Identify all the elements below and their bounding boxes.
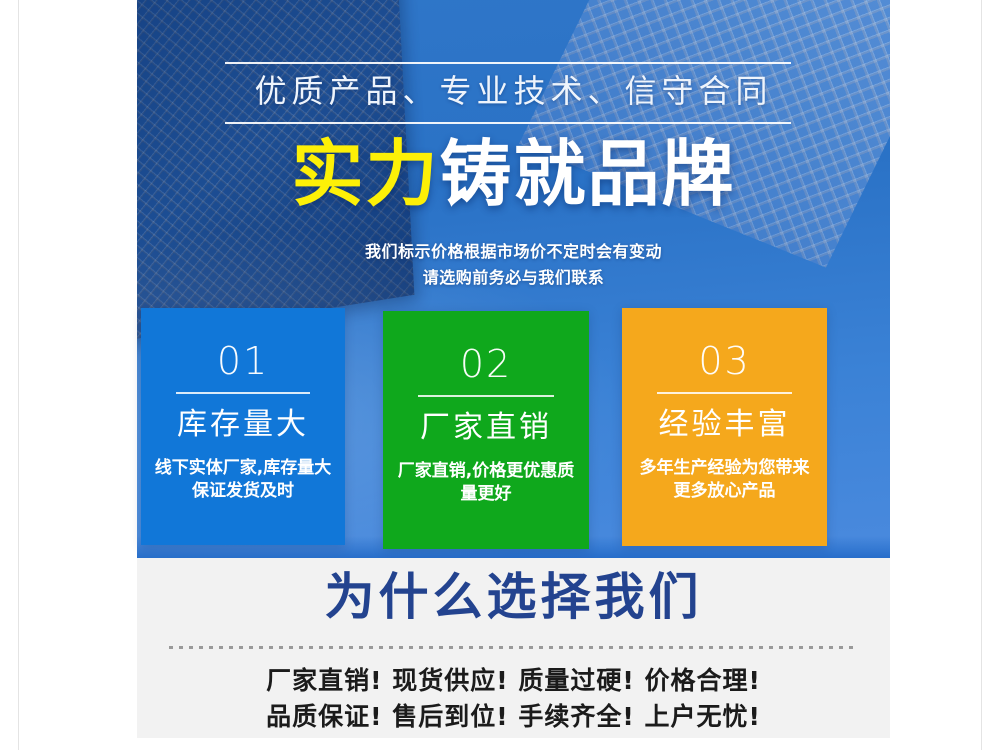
right-gutter-rule — [981, 0, 982, 750]
hero-note-line-1: 我们标示价格根据市场价不定时会有变动 — [137, 238, 890, 262]
dotted-divider — [169, 646, 858, 649]
headline-rest: 铸就品牌 — [440, 132, 736, 216]
feature-card-02-title: 厂家直销 — [383, 411, 589, 444]
feature-card-01-divider — [176, 392, 311, 394]
feature-card-03-number: 03 — [622, 342, 827, 380]
left-gutter-rule — [18, 0, 19, 750]
feature-card-03: 03 经验丰富 多年生产经验为您带来更多放心产品 — [622, 308, 827, 546]
feature-card-02-desc: 厂家直销,价格更优惠质量更好 — [383, 460, 589, 506]
feature-card-03-desc: 多年生产经验为您带来更多放心产品 — [622, 457, 827, 503]
claims-line-1: 厂家直销! 现货供应! 质量过硬! 价格合理! — [137, 668, 890, 693]
hero-note-line-2: 请选购前务必与我们联系 — [137, 264, 890, 288]
promotional-banner: 优质产品、专业技术、信守合同 实力铸就品牌 我们标示价格根据市场价不定时会有变动… — [0, 0, 1000, 750]
feature-card-02-number: 02 — [383, 345, 589, 383]
feature-card-01-number: 01 — [141, 342, 345, 380]
feature-card-03-divider — [657, 392, 792, 394]
headline-rule-top — [225, 62, 791, 64]
feature-card-03-title: 经验丰富 — [622, 408, 827, 441]
claims-line-2: 品质保证! 售后到位! 手续齐全! 上户无忧! — [137, 704, 890, 729]
headline-highlight: 实力 — [291, 132, 439, 216]
feature-card-01-title: 库存量大 — [141, 408, 345, 441]
headline-rule-bottom — [225, 122, 791, 124]
feature-card-02-divider — [418, 395, 554, 397]
why-choose-us-heading: 为什么选择我们 — [137, 572, 890, 622]
why-choose-us-section: 为什么选择我们 厂家直销! 现货供应! 质量过硬! 价格合理! 品质保证! 售后… — [137, 558, 890, 738]
hero-headline: 实力铸就品牌 — [137, 138, 890, 210]
feature-card-01-desc: 线下实体厂家,库存量大保证发货及时 — [141, 457, 345, 503]
feature-card-01: 01 库存量大 线下实体厂家,库存量大保证发货及时 — [141, 308, 345, 545]
hero-subheadline: 优质产品、专业技术、信守合同 — [137, 66, 890, 112]
feature-card-02: 02 厂家直销 厂家直销,价格更优惠质量更好 — [383, 311, 589, 549]
